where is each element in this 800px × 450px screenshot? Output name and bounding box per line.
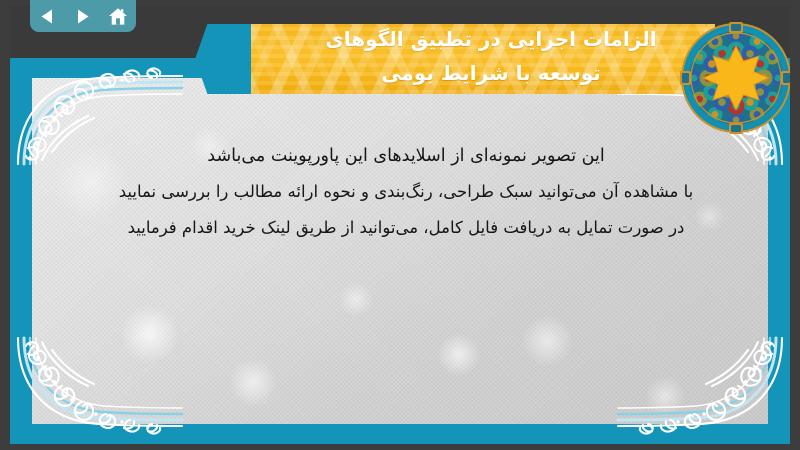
- persian-medallion-ornament-icon: [678, 20, 790, 136]
- body-line-3: در صورت تمایل به دریافت فایل کامل، می‌تو…: [50, 210, 762, 246]
- title-banner: الزامات اجرایی در تطبیق الگوهای توسعه با…: [195, 18, 715, 100]
- navigation-bar: [30, 0, 136, 32]
- slide-title: الزامات اجرایی در تطبیق الگوهای توسعه با…: [251, 24, 715, 90]
- slide-title-line-1: الزامات اجرایی در تطبیق الگوهای: [281, 24, 701, 56]
- home-button[interactable]: [105, 3, 131, 29]
- slide-title-line-2: توسعه با شرایط بومی: [281, 56, 701, 90]
- slide-viewer: این تصویر نمونه‌ای از اسلایدهای این پاور…: [0, 0, 800, 450]
- banner-arrow-tail: [195, 24, 257, 94]
- back-button[interactable]: [35, 3, 61, 29]
- body-line-2: با مشاهده آن می‌توانید سبک طراحی، رنگ‌بن…: [50, 174, 762, 210]
- triangle-right-icon: [74, 8, 91, 25]
- forward-button[interactable]: [70, 3, 96, 29]
- content-panel: [32, 78, 768, 424]
- triangle-left-icon: [39, 8, 56, 25]
- banner-body: الزامات اجرایی در تطبیق الگوهای توسعه با…: [251, 24, 715, 94]
- slide-body-text: این تصویر نمونه‌ای از اسلایدهای این پاور…: [50, 138, 762, 246]
- body-line-1: این تصویر نمونه‌ای از اسلایدهای این پاور…: [50, 138, 762, 174]
- decorative-frame: [10, 58, 790, 444]
- slide-canvas: این تصویر نمونه‌ای از اسلایدهای این پاور…: [10, 6, 790, 444]
- home-icon: [108, 7, 128, 26]
